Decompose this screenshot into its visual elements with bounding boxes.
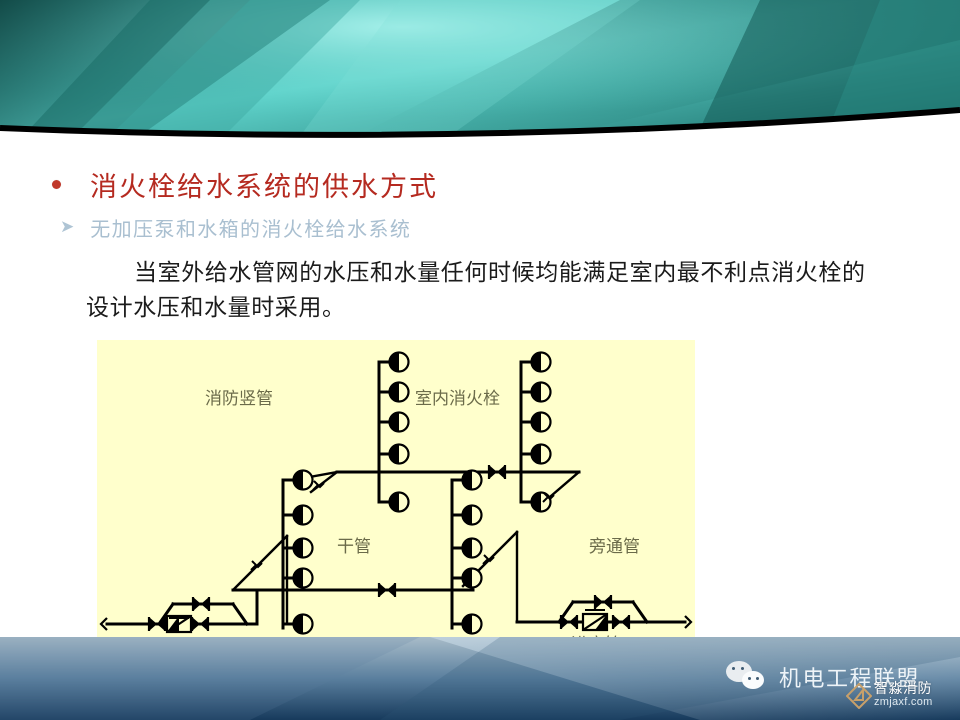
system-diagram-graphic: 消防竖管 室内消火栓 干管 旁通管 水表 进户管 [97,340,695,637]
page-subtitle: 无加压泵和水箱的消火栓给水系统 [90,213,411,242]
arrow-bullet-icon: ➤ [60,218,74,235]
slide-canvas: 消火栓给水系统的供水方式 ➤ 无加压泵和水箱的消火栓给水系统 当室外给水管网的水… [0,0,960,720]
header-banner [0,0,960,150]
bullet-dot-icon [52,180,61,189]
label-riser: 消防竖管 [205,389,273,408]
watermark-text-cn: 智淼消防 [874,681,933,696]
water-meter-symbol [167,616,191,632]
watermark: 智淼消防 zmjaxf.com [846,681,960,717]
title-row: 消火栓给水系统的供水方式 [52,165,772,203]
watermark-diamond-icon [846,683,872,709]
page-title: 消火栓给水系统的供水方式 [90,165,438,204]
label-bypass-pipe: 旁通管 [589,537,640,556]
system-diagram: 消防竖管 室内消火栓 干管 旁通管 水表 进户管 [97,340,695,637]
label-main-pipe: 干管 [337,537,371,556]
body-paragraph: 当室外给水管网的水压和水量任何时候均能满足室内最不利点消火栓的设计水压和水量时采… [86,255,876,325]
label-indoor-hydrant: 室内消火栓 [415,389,500,408]
header-banner-graphic [0,0,960,150]
subtitle-row: ➤ 无加压泵和水箱的消火栓给水系统 [60,212,780,242]
wechat-icon [726,661,770,693]
watermark-url: zmjaxf.com [874,696,933,709]
service-meter-symbol [583,610,607,630]
